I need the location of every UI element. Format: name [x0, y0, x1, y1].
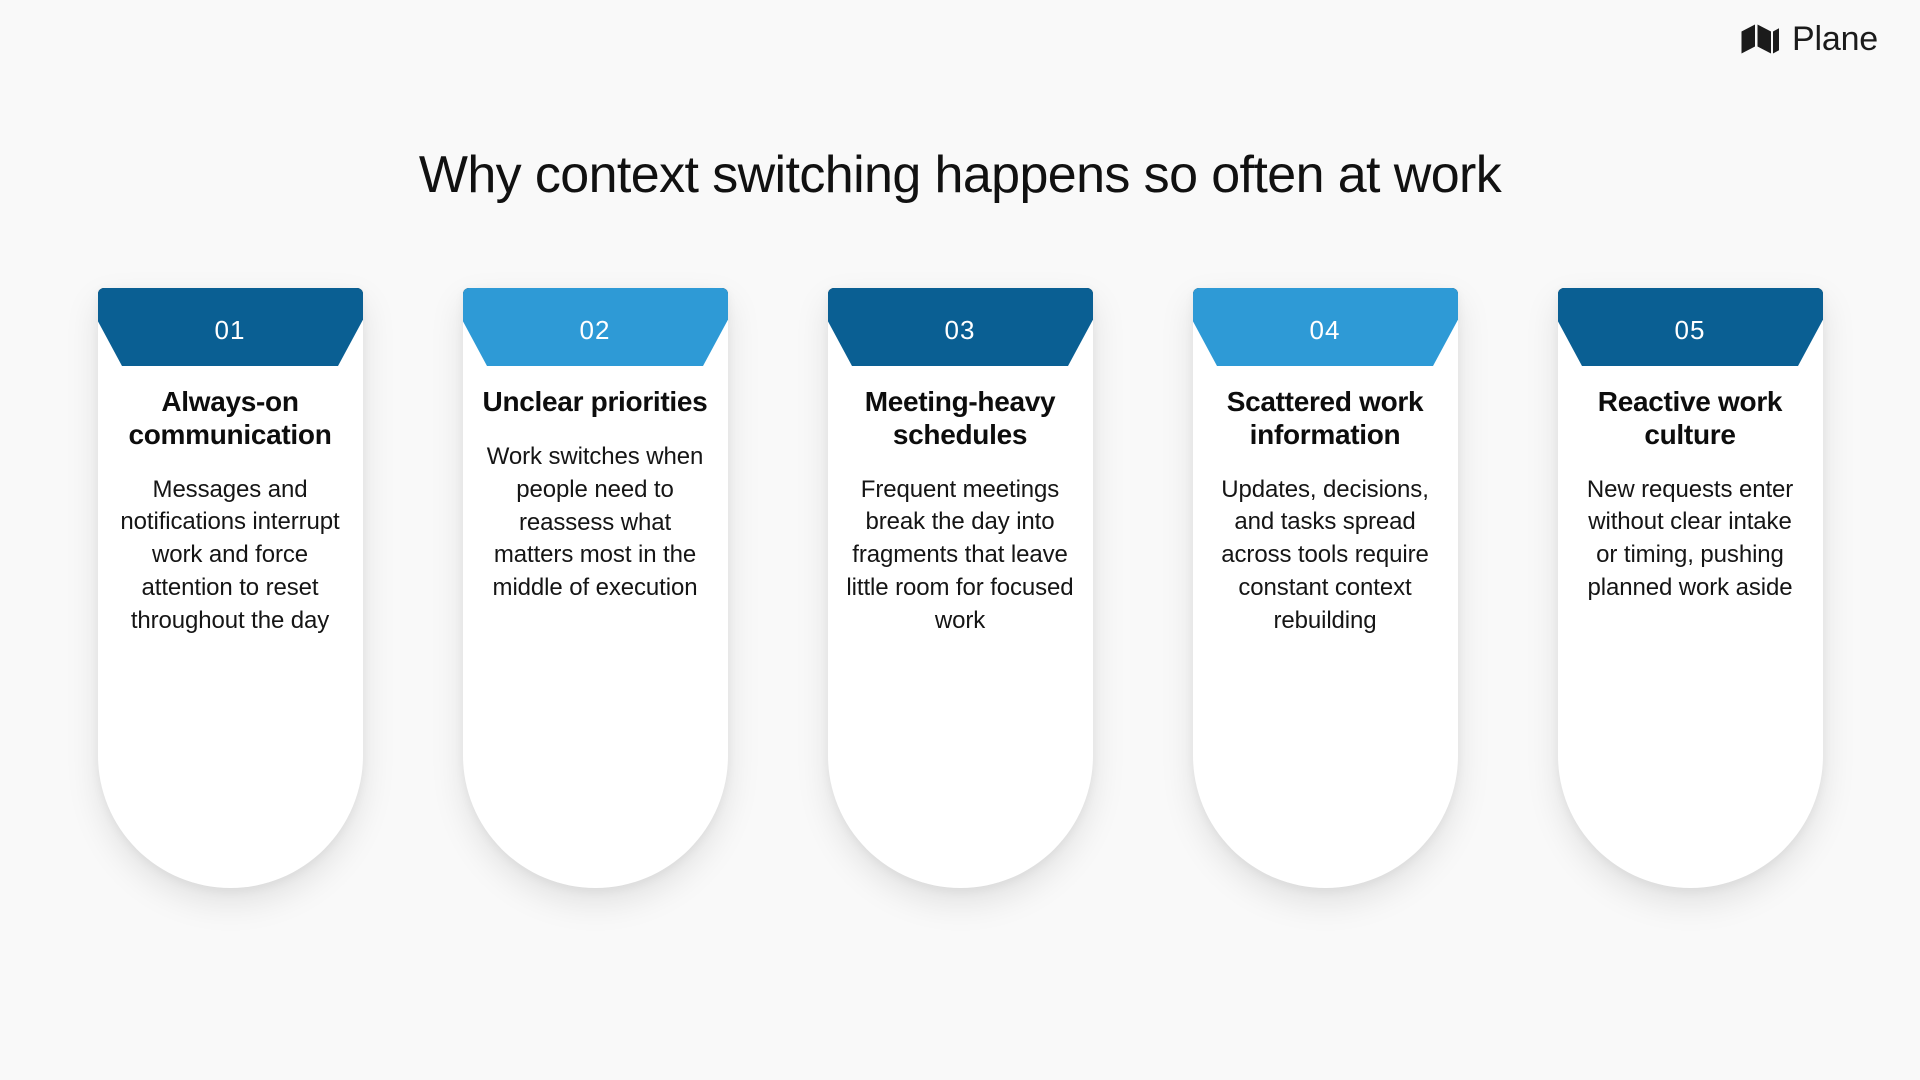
card-heading: Unclear priorities	[479, 386, 712, 419]
ribbon-shape	[1193, 288, 1458, 366]
info-card-body: 04 Scattered work information Updates, d…	[1193, 288, 1458, 888]
ribbon-fold-left-icon	[463, 288, 486, 328]
card-number: 04	[1193, 288, 1458, 366]
ribbon-shape	[828, 288, 1093, 366]
ribbon-fold-right-icon	[705, 288, 728, 328]
info-card-body: 01 Always-on communication Messages and …	[98, 288, 363, 888]
ribbon-banner: 05	[1558, 288, 1823, 366]
cards-row: 01 Always-on communication Messages and …	[0, 288, 1920, 888]
card-number: 03	[828, 288, 1093, 366]
card-body-text: Updates, decisions, and tasks spread acr…	[1209, 474, 1442, 638]
ribbon-shape	[1558, 288, 1823, 366]
card-body-text: New requests enter without clear intake …	[1574, 474, 1807, 606]
card-body-text: Messages and notifications interrupt wor…	[114, 474, 347, 638]
ribbon-shape	[463, 288, 728, 366]
ribbon-banner: 03	[828, 288, 1093, 366]
ribbon-fold-right-icon	[1800, 288, 1823, 328]
card-heading: Meeting-heavy schedules	[844, 386, 1077, 452]
card-number: 01	[98, 288, 363, 366]
info-card: 05 Reactive work culture New requests en…	[1558, 288, 1823, 888]
card-heading: Reactive work culture	[1574, 386, 1807, 452]
ribbon-banner: 04	[1193, 288, 1458, 366]
page-title: Why context switching happens so often a…	[0, 147, 1920, 204]
ribbon-banner: 01	[98, 288, 363, 366]
info-card: 03 Meeting-heavy schedules Frequent meet…	[828, 288, 1093, 888]
brand-logo: Plane	[1740, 22, 1878, 56]
ribbon-fold-left-icon	[1558, 288, 1581, 328]
card-heading: Scattered work information	[1209, 386, 1442, 452]
ribbon-fold-right-icon	[1070, 288, 1093, 328]
brand-name: Plane	[1792, 22, 1878, 56]
card-body-text: Work switches when people need to reasse…	[479, 441, 712, 605]
info-card-body: 02 Unclear priorities Work switches when…	[463, 288, 728, 888]
info-card: 01 Always-on communication Messages and …	[98, 288, 363, 888]
card-number: 05	[1558, 288, 1823, 366]
info-card: 02 Unclear priorities Work switches when…	[463, 288, 728, 888]
ribbon-shape	[98, 288, 363, 366]
ribbon-banner: 02	[463, 288, 728, 366]
ribbon-fold-right-icon	[340, 288, 363, 328]
ribbon-fold-left-icon	[98, 288, 121, 328]
ribbon-fold-left-icon	[828, 288, 851, 328]
card-number: 02	[463, 288, 728, 366]
card-heading: Always-on communication	[114, 386, 347, 452]
info-card: 04 Scattered work information Updates, d…	[1193, 288, 1458, 888]
card-body-text: Frequent meetings break the day into fra…	[844, 474, 1077, 638]
plane-logo-icon	[1740, 22, 1780, 56]
info-card-body: 05 Reactive work culture New requests en…	[1558, 288, 1823, 888]
ribbon-fold-right-icon	[1435, 288, 1458, 328]
ribbon-fold-left-icon	[1193, 288, 1216, 328]
info-card-body: 03 Meeting-heavy schedules Frequent meet…	[828, 288, 1093, 888]
